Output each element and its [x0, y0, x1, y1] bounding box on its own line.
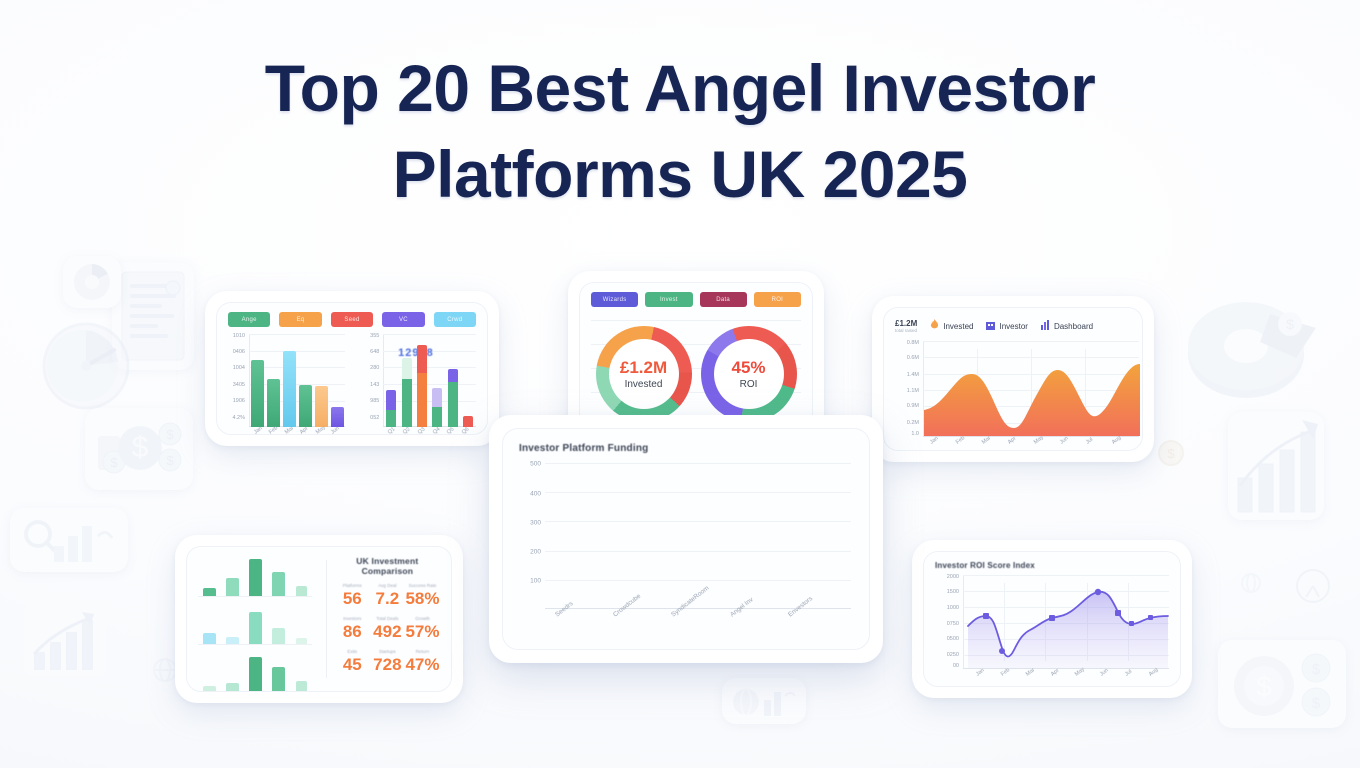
grouped-card-frame: Investor Platform Funding 500 400 300 20… [502, 428, 870, 650]
stat-value: 47% [405, 655, 440, 675]
mini-bar[interactable] [296, 638, 307, 644]
mini-bar[interactable] [272, 667, 285, 692]
svg-text:$: $ [1167, 446, 1175, 461]
header-metric-dashboard[interactable]: Dashboard [1041, 317, 1093, 335]
bar-comparison-card[interactable]: Ange Eq Seed VC Crwd 1010 0406 [205, 291, 499, 446]
mini-bar[interactable] [272, 572, 285, 596]
stacked-bar[interactable] [463, 416, 473, 427]
x-tick: Q2 [402, 426, 411, 435]
y-tick: 4.2% [232, 415, 245, 421]
donut-card-legend: Wizards Invest Data ROI [591, 292, 801, 307]
y-tick: 0.6M [907, 355, 919, 361]
mini-bar[interactable] [296, 586, 307, 596]
x-axis [963, 668, 1169, 669]
y-tick: 985 [370, 398, 379, 404]
flame-icon [930, 317, 939, 335]
stat-value: 58% [405, 589, 440, 609]
stat-value: 57% [405, 622, 440, 642]
legend-pill-wizards[interactable]: Wizards [591, 292, 638, 307]
stats-grid: Platforms 56 Avg Deal 7.2 Success Rate 5… [335, 583, 440, 682]
y-tick: 0.9M [907, 403, 919, 409]
y-tick: 0.2M [907, 420, 919, 426]
investment-trend-card[interactable]: £1.2M total raised Invested [872, 296, 1154, 462]
line-card-frame: Investor ROI Score Index 2000 1500 1000 … [923, 551, 1181, 687]
y-tick: 1004 [233, 365, 245, 371]
stats-panel-title: UK Investment Comparison [335, 556, 440, 576]
line-chart: 2000 1500 1000 0750 0500 0250 00 [963, 575, 1169, 669]
y-tick: 0500 [947, 636, 959, 642]
y-tick: 500 [530, 461, 541, 468]
header-label: Invested [943, 322, 973, 331]
y-tick: 1000 [947, 605, 959, 611]
deco-plate-analysis [10, 508, 128, 572]
y-tick: 1010 [233, 333, 245, 339]
bar[interactable] [251, 360, 264, 427]
deco-plate-growth [1228, 412, 1324, 520]
legend-pill-ange[interactable]: Ange [228, 312, 270, 327]
stat-label: Success Rate [405, 583, 440, 588]
stat-cell[interactable]: Success Rate 58% [405, 583, 440, 616]
stat-cell[interactable]: Avg Deal 7.2 [370, 583, 405, 616]
x-tick: Jan [929, 436, 940, 446]
area-chart: 0.8M 0.6M 1.4M 1.1M 0.9M 0.2M 1.0 Jan Fe… [923, 341, 1139, 437]
y-tick: 1906 [233, 398, 245, 404]
y-tick: 1.0 [911, 431, 919, 437]
deco-plate-doc [112, 262, 194, 370]
y-tick: 0750 [947, 621, 959, 627]
stat-cell[interactable]: Growth 57% [405, 616, 440, 649]
x-tick: Jun [1059, 436, 1070, 446]
y-tick: 0250 [947, 652, 959, 658]
legend-pill-crwd[interactable]: Crwd [434, 312, 476, 327]
mini-bar[interactable] [249, 657, 262, 692]
stats-card-body: UK Investment Comparison Platforms 56 Av… [198, 556, 440, 682]
y-tick: 0406 [233, 349, 245, 355]
header-metric-total: £1.2M total raised [895, 319, 917, 333]
mini-bar[interactable] [296, 681, 307, 692]
stats-card-frame: UK Investment Comparison Platforms 56 Av… [186, 546, 452, 692]
y-tick: 1500 [947, 589, 959, 595]
y-tick: 1.1M [907, 388, 919, 394]
deco-plate-coins [1218, 640, 1346, 728]
area-series [924, 340, 1140, 436]
stat-value: 86 [335, 622, 370, 642]
donut-card-frame: Wizards Invest Data ROI £1.2M Invested [579, 282, 813, 436]
stat-label: Investors [335, 616, 370, 621]
stat-cell[interactable]: Return 47% [405, 649, 440, 682]
x-tick: Q1 [387, 426, 396, 435]
stacked-bar[interactable] [417, 345, 427, 427]
page-background: Top 20 Best Angel Investor Platforms UK … [0, 0, 1360, 768]
stat-value: 728 [370, 655, 405, 675]
funding-breakdown-card[interactable]: Investor Platform Funding 500 400 300 20… [489, 415, 883, 663]
growth-arrow-icon [22, 604, 108, 678]
legend-pill-vc[interactable]: VC [382, 312, 424, 327]
stat-label: Total Deals [370, 616, 405, 621]
header-metric-invested[interactable]: Invested [930, 317, 973, 335]
x-tick: Apr [299, 426, 309, 435]
mini-bar[interactable] [203, 686, 216, 692]
y-tick: 2000 [947, 574, 959, 580]
returns-timeline-card[interactable]: Investor ROI Score Index 2000 1500 1000 … [912, 540, 1192, 698]
legend-pill-seed[interactable]: Seed [331, 312, 373, 327]
line-card-title: Investor ROI Score Index [935, 561, 1169, 570]
x-tick: Jan [975, 668, 986, 678]
x-axis [923, 436, 1139, 437]
area-card-frame: £1.2M total raised Invested [883, 307, 1143, 451]
legend-pill-eq[interactable]: Eq [279, 312, 321, 327]
x-tick: Jun [1099, 668, 1110, 678]
header-label: Investor [999, 322, 1027, 331]
legend-pill-roi[interactable]: ROI [754, 292, 801, 307]
y-tick: 200 [530, 549, 541, 556]
stacked-bar[interactable] [432, 388, 442, 427]
stacked-bar-group [383, 334, 476, 427]
donut-label: ROI [740, 379, 758, 390]
mini-bar[interactable] [249, 559, 262, 596]
stacked-bar[interactable] [402, 358, 412, 427]
svg-text:$: $ [1286, 316, 1294, 332]
x-tick: Q5 [446, 426, 455, 435]
mini-bar[interactable] [226, 578, 239, 596]
donut-3d-icon: $ [1178, 280, 1328, 410]
stacked-bar[interactable] [448, 369, 458, 427]
y-tick: 1.4M [907, 372, 919, 378]
bar[interactable] [299, 385, 312, 427]
bar[interactable] [283, 351, 296, 427]
mini-bar[interactable] [226, 637, 239, 644]
stat-cell[interactable]: Platforms 56 [335, 583, 370, 616]
stat-label: Growth [405, 616, 440, 621]
donut-center: 45% ROI [714, 339, 784, 409]
x-tick: Apr [1007, 436, 1017, 446]
y-tick: 0.8M [907, 340, 919, 346]
stat-cell[interactable]: Total Deals 492 [370, 616, 405, 649]
grouped-card-body: Investor Platform Funding 500 400 300 20… [519, 443, 851, 637]
stat-label: Platforms [335, 583, 370, 588]
stat-label: Return [405, 649, 440, 654]
donut-center: £1.2M Invested [609, 339, 679, 409]
x-tick: Q6 [461, 426, 470, 435]
stat-cell[interactable]: Investors 86 [335, 616, 370, 649]
y-tick: 00 [953, 663, 959, 669]
page-title-line1: Top 20 Best Angel Investor [0, 46, 1360, 132]
page-title-line2: Platforms UK 2025 [0, 132, 1360, 218]
y-tick: 143 [370, 382, 379, 388]
x-tick: Q4 [432, 426, 441, 435]
speedometer-icon [1292, 565, 1334, 607]
y-tick: 280 [370, 365, 379, 371]
stat-value: 7.2 [370, 589, 405, 609]
x-tick: Apr [1050, 668, 1060, 678]
header-metric-investor[interactable]: Investor [986, 317, 1027, 335]
mini-bar[interactable] [203, 633, 216, 644]
panel-divider [326, 560, 327, 678]
page-title: Top 20 Best Angel Investor Platforms UK … [0, 46, 1360, 218]
y-tick: 400 [530, 490, 541, 497]
bar-card-legend: Ange Eq Seed VC Crwd [228, 312, 476, 327]
donut-card-body: Wizards Invest Data ROI £1.2M Invested [591, 292, 801, 426]
mini-bar[interactable] [272, 628, 285, 644]
mini-bar-row [198, 556, 312, 597]
legend-pill-data[interactable]: Data [700, 292, 747, 307]
donut-invested[interactable]: £1.2M Invested [596, 326, 692, 422]
mini-charts-panel [198, 556, 318, 682]
header-value: £1.2M [895, 319, 917, 328]
y-tick: 355 [370, 333, 379, 339]
coin-icon: $ [1156, 438, 1186, 468]
stat-cell[interactable]: Startups 728 [370, 649, 405, 682]
x-tick: Jul [1085, 437, 1094, 446]
y-tick: 3405 [233, 382, 245, 388]
y-tick: 100 [530, 578, 541, 585]
mini-bar-row [198, 604, 312, 645]
x-tick: Q3 [417, 426, 426, 435]
deco-plate-pie [63, 256, 121, 308]
area-card-header: £1.2M total raised Invested [895, 317, 1131, 335]
donut-roi[interactable]: 45% ROI [701, 326, 797, 422]
grouped-bar-chart: 500 400 300 200 100 [545, 463, 851, 609]
y-tick: 052 [370, 415, 379, 421]
deco-plate-globe-bottom [722, 678, 806, 724]
stat-value: 492 [370, 622, 405, 642]
y-tick: 648 [370, 349, 379, 355]
stats-panel: UK Investment Comparison Platforms 56 Av… [335, 556, 440, 682]
bar[interactable] [267, 379, 280, 427]
grouped-card-title: Investor Platform Funding [519, 443, 851, 454]
bar-chart-right: 355 648 280 143 985 052 12938 [383, 334, 476, 427]
stat-label: Startups [370, 649, 405, 654]
legend-pill-invest[interactable]: Invest [645, 292, 692, 307]
platform-metrics-card[interactable]: UK Investment Comparison Platforms 56 Av… [175, 535, 463, 703]
mini-bar-row [198, 652, 312, 692]
stat-cell[interactable]: Exits 45 [335, 649, 370, 682]
mini-bar[interactable] [249, 612, 262, 644]
mini-bar[interactable] [203, 588, 216, 596]
mini-bar[interactable] [226, 683, 239, 692]
donut-value: 45% [731, 358, 765, 378]
small-globe-icon [1240, 570, 1262, 596]
bar-card-body: Ange Eq Seed VC Crwd 1010 0406 [228, 312, 476, 425]
chart-icon [1041, 317, 1050, 335]
bar[interactable] [315, 386, 328, 427]
header-label: Dashboard [1054, 322, 1093, 331]
stat-value: 56 [335, 589, 370, 609]
stacked-bar[interactable] [386, 390, 396, 427]
area-card-body: £1.2M total raised Invested [895, 317, 1131, 441]
line-card-body: Investor ROI Score Index 2000 1500 1000 … [935, 561, 1169, 677]
stat-label: Exits [335, 649, 370, 654]
stat-label: Avg Deal [370, 583, 405, 588]
bar-chart-left: 1010 0406 1004 3405 1906 4.2% [249, 334, 345, 427]
header-sub: total raised [895, 328, 917, 333]
bar-card-frame: Ange Eq Seed VC Crwd 1010 0406 [216, 302, 488, 435]
donut-label: Invested [625, 379, 663, 390]
bar[interactable] [331, 407, 344, 427]
y-tick: 300 [530, 519, 541, 526]
x-tick: Jul [1124, 669, 1133, 678]
deco-plate-money [85, 408, 193, 490]
donut-value: £1.2M [620, 358, 667, 378]
bar-group [249, 334, 345, 427]
building-icon [986, 317, 995, 335]
line-series [964, 574, 1170, 668]
stat-value: 45 [335, 655, 370, 675]
